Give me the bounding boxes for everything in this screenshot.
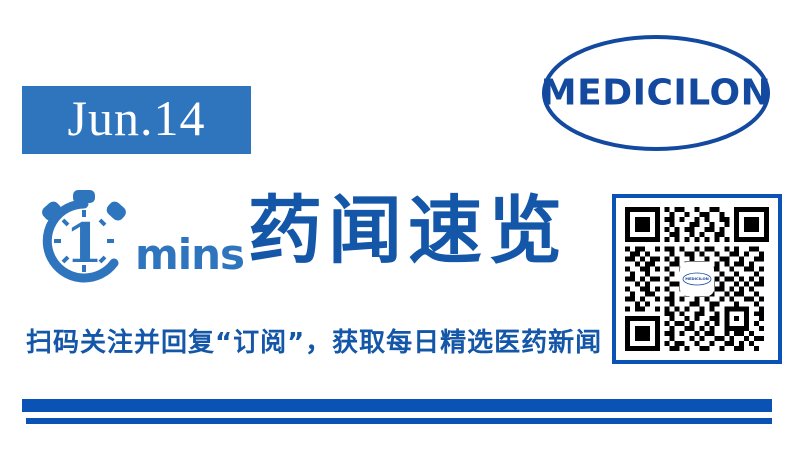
stopwatch-icon: 1 <box>30 186 138 294</box>
headline-title: 药闻速览 <box>248 194 568 268</box>
qr-center-medicilon-logo: MEDICILON <box>680 262 714 296</box>
date-badge: Jun.14 <box>22 86 251 154</box>
medicilon-logo-text: MEDICILON <box>541 73 771 114</box>
mins-label: mins <box>135 234 244 276</box>
qr-code[interactable]: MEDICILON <box>612 194 782 364</box>
bottom-rule-thin <box>26 418 772 424</box>
qr-center-logo-text: MEDICILON <box>685 277 709 281</box>
subtitle-text: 扫码关注并回复“订阅”，获取每日精选医药新闻 <box>26 322 602 359</box>
bottom-rule-thick <box>22 399 772 412</box>
date-badge-label: Jun.14 <box>68 93 206 147</box>
news-banner: Jun.14 MEDICILON <box>0 0 800 468</box>
medicilon-logo: MEDICILON <box>540 33 772 153</box>
qr-code-canvas: MEDICILON <box>625 207 769 351</box>
stopwatch-digit: 1 <box>65 211 103 275</box>
headline-row: 1 mins 药闻速览 <box>30 186 550 298</box>
